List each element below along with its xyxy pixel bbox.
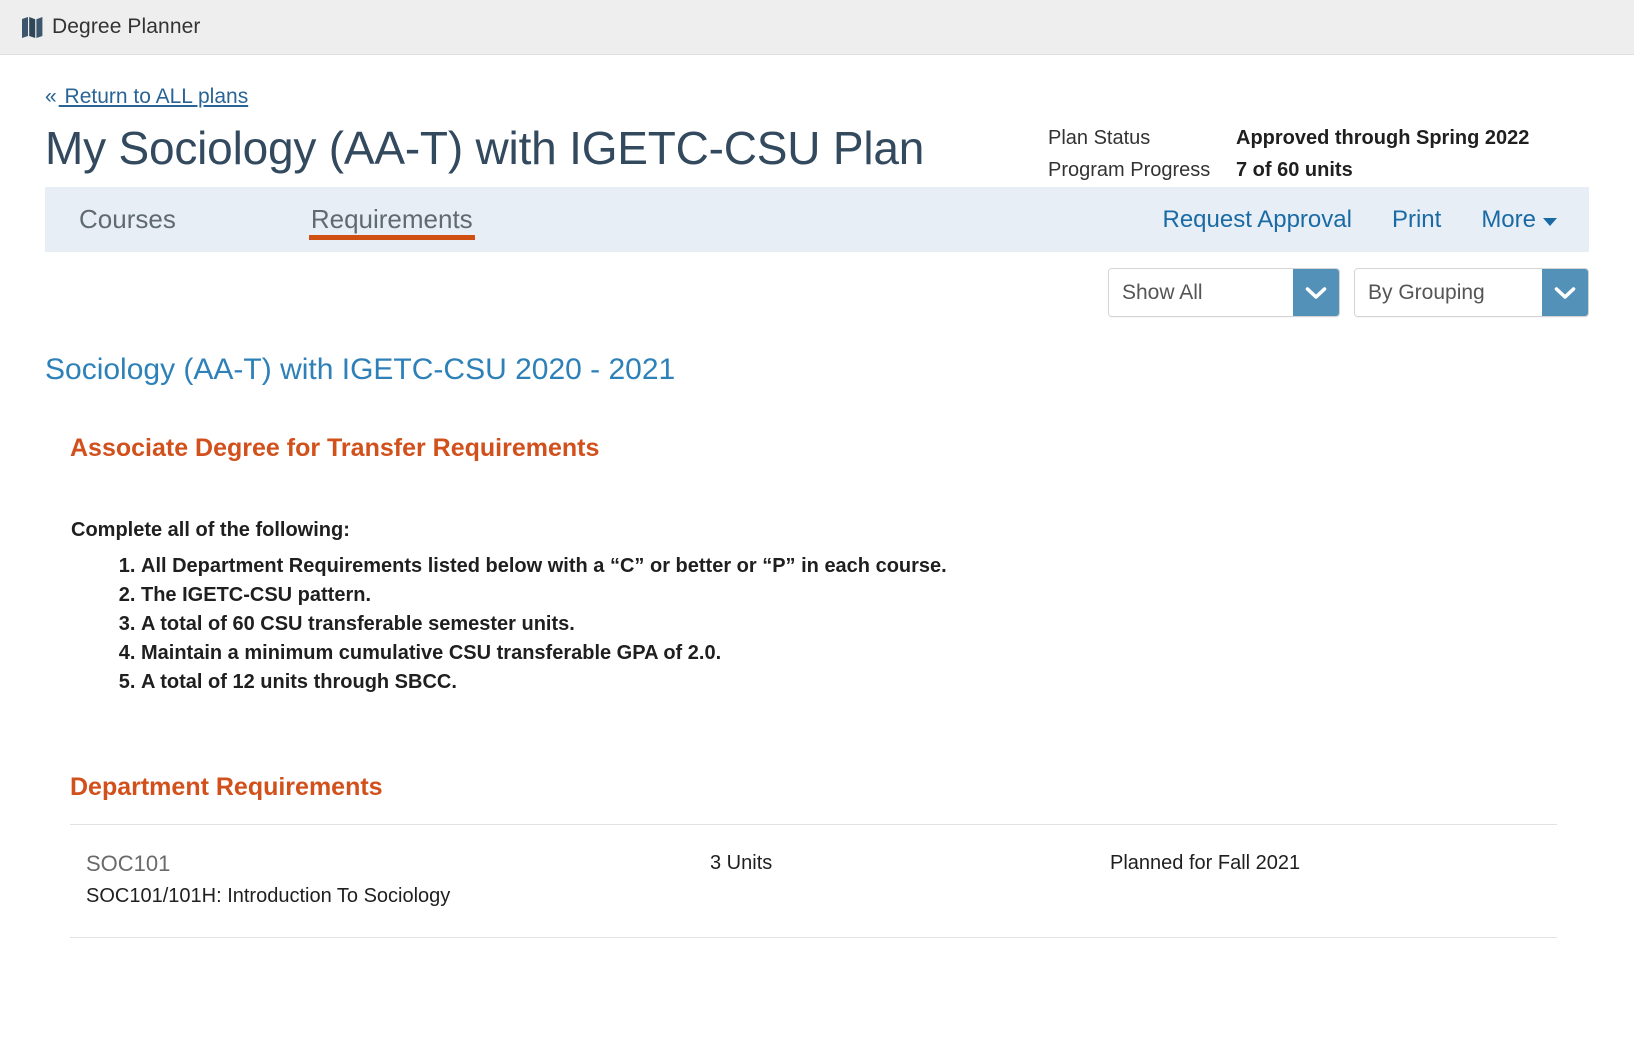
page-body: « Return to ALL plans My Sociology (AA-T… xyxy=(0,55,1634,938)
return-link-label: Return to ALL plans xyxy=(59,85,249,108)
chevron-down-icon xyxy=(1553,285,1577,301)
request-approval-button[interactable]: Request Approval xyxy=(1142,206,1371,234)
complete-all-label: Complete all of the following: xyxy=(71,519,1589,542)
request-approval-label: Request Approval xyxy=(1162,206,1351,233)
table-row[interactable]: SOC101 SOC101/101H: Introduction To Soci… xyxy=(70,825,1557,938)
tab-courses[interactable]: Courses xyxy=(69,187,186,252)
plan-status-row: Plan Status Approved through Spring 2022 xyxy=(1048,127,1568,159)
tab-courses-label: Courses xyxy=(79,204,176,235)
double-chevron-left-icon: « xyxy=(45,85,59,108)
requirements-list: All Department Requirements listed below… xyxy=(45,552,1589,697)
list-item: All Department Requirements listed below… xyxy=(141,552,1589,581)
course-status: Planned for Fall 2021 xyxy=(1110,849,1557,875)
filter-row: Show All By Grouping xyxy=(22,268,1589,317)
plan-status-label: Plan Status xyxy=(1048,127,1236,150)
more-label: More xyxy=(1481,206,1536,234)
chevron-down-icon xyxy=(1543,218,1557,226)
course-units: 3 Units xyxy=(710,849,1110,875)
show-all-select-value[interactable]: Show All xyxy=(1109,269,1293,316)
show-all-select[interactable]: Show All xyxy=(1108,268,1340,317)
program-heading[interactable]: Sociology (AA-T) with IGETC-CSU 2020 - 2… xyxy=(45,353,1589,387)
plan-meta: Plan Status Approved through Spring 2022… xyxy=(1048,127,1568,191)
requirements-content: Sociology (AA-T) with IGETC-CSU 2020 - 2… xyxy=(45,353,1589,938)
department-requirements-heading: Department Requirements xyxy=(70,773,1589,802)
return-to-all-plans-link[interactable]: « Return to ALL plans xyxy=(45,85,248,108)
course-info: SOC101 SOC101/101H: Introduction To Soci… xyxy=(70,849,710,911)
tab-requirements[interactable]: Requirements xyxy=(301,187,483,252)
grouping-select[interactable]: By Grouping xyxy=(1354,268,1589,317)
app-title: Degree Planner xyxy=(52,15,201,39)
list-item: The IGETC-CSU pattern. xyxy=(141,581,1589,610)
course-code: SOC101 xyxy=(86,849,710,879)
program-progress-label: Program Progress xyxy=(1048,159,1236,182)
list-item: A total of 12 units through SBCC. xyxy=(141,668,1589,697)
print-button[interactable]: Print xyxy=(1372,206,1461,234)
tab-group: Courses Requirements xyxy=(45,187,483,252)
course-table: SOC101 SOC101/101H: Introduction To Soci… xyxy=(70,824,1557,938)
app-header: Degree Planner xyxy=(0,0,1634,55)
print-label: Print xyxy=(1392,206,1441,233)
program-progress-row: Program Progress 7 of 60 units xyxy=(1048,159,1568,191)
show-all-select-toggle[interactable] xyxy=(1293,269,1339,316)
list-item: Maintain a minimum cumulative CSU transf… xyxy=(141,639,1589,668)
plan-status-value: Approved through Spring 2022 xyxy=(1236,127,1529,150)
breadcrumb: « Return to ALL plans xyxy=(22,55,1612,109)
list-item: A total of 60 CSU transferable semester … xyxy=(141,610,1589,639)
chevron-down-icon xyxy=(1304,285,1328,301)
grouping-select-toggle[interactable] xyxy=(1542,269,1588,316)
program-progress-value: 7 of 60 units xyxy=(1236,159,1353,182)
map-book-icon xyxy=(20,14,46,40)
tab-actions: Request Approval Print More xyxy=(1142,206,1577,234)
grouping-select-value[interactable]: By Grouping xyxy=(1355,269,1542,316)
tab-requirements-label: Requirements xyxy=(311,204,473,235)
tab-bar: Courses Requirements Request Approval Pr… xyxy=(45,187,1589,252)
course-name: SOC101/101H: Introduction To Sociology xyxy=(86,881,710,911)
plan-header: My Sociology (AA-T) with IGETC-CSU Plan … xyxy=(22,121,1612,175)
adt-requirements-heading: Associate Degree for Transfer Requiremen… xyxy=(70,434,1589,463)
page-title: My Sociology (AA-T) with IGETC-CSU Plan xyxy=(45,121,924,175)
more-menu-button[interactable]: More xyxy=(1461,206,1577,234)
